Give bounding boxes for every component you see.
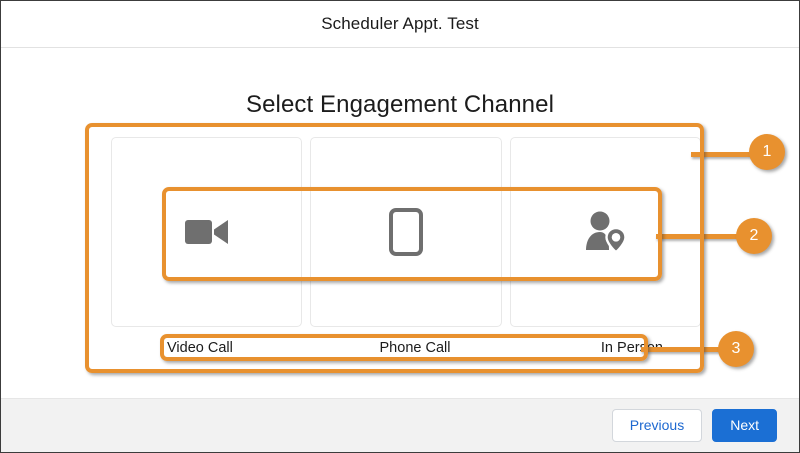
channel-label-row: Video Call Phone Call In Person [111,335,701,361]
window-body: Select Engagement Channel [1,49,799,398]
next-button[interactable]: Next [712,409,777,441]
mobile-phone-icon [311,208,500,256]
video-camera-icon [112,215,301,249]
channel-card-phone-call[interactable] [310,137,501,327]
previous-button[interactable]: Previous [612,409,702,441]
window-footer: Previous Next [1,398,799,452]
channel-card-video-call[interactable] [111,137,302,327]
channel-label-video-call: Video Call [111,340,332,356]
channel-card-group [111,137,701,327]
channel-label-phone-call: Phone Call [332,340,497,356]
window-title: Scheduler Appt. Test [321,14,479,34]
window-header: Scheduler Appt. Test [1,1,799,48]
app-window: Scheduler Appt. Test Select Engagement C… [0,0,800,453]
person-location-pin-icon [511,211,700,253]
channel-card-in-person[interactable] [510,137,701,327]
page-title: Select Engagement Channel [1,91,799,119]
channel-label-in-person: In Person [498,340,701,356]
